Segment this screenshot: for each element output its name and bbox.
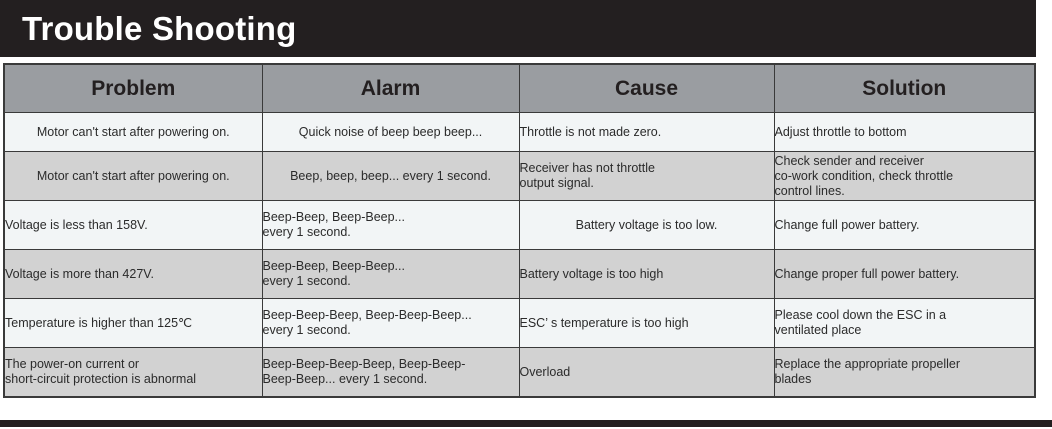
cell-solution: Change full power battery. xyxy=(774,201,1035,250)
cell-problem: Temperature is higher than 125℃ xyxy=(4,299,262,348)
page-title: Trouble Shooting xyxy=(22,6,297,51)
troubleshooting-table: Problem Alarm Cause Solution Motor can't… xyxy=(3,63,1036,398)
cell-alarm: Quick noise of beep beep beep... xyxy=(262,113,519,152)
table-row: Motor can't start after powering on. Qui… xyxy=(4,113,1035,152)
cell-problem: Motor can't start after powering on. xyxy=(4,113,262,152)
cell-solution: Replace the appropriate propeller blades xyxy=(774,348,1035,398)
cell-alarm: Beep-Beep-Beep, Beep-Beep-Beep... every … xyxy=(262,299,519,348)
cell-problem: The power-on current or short-circuit pr… xyxy=(4,348,262,398)
table-row: Voltage is more than 427V. Beep-Beep, Be… xyxy=(4,250,1035,299)
cell-solution: Please cool down the ESC in a ventilated… xyxy=(774,299,1035,348)
cell-solution: Check sender and receiver co-work condit… xyxy=(774,152,1035,201)
title-bar: Trouble Shooting xyxy=(0,0,1036,57)
troubleshooting-page: Trouble Shooting Problem Alarm Cause Sol… xyxy=(0,0,1052,429)
cell-cause: Battery voltage is too high xyxy=(519,250,774,299)
column-header-cause: Cause xyxy=(519,64,774,113)
cell-alarm: Beep-Beep-Beep-Beep, Beep-Beep- Beep-Bee… xyxy=(262,348,519,398)
table-header: Problem Alarm Cause Solution xyxy=(4,64,1035,113)
column-header-solution: Solution xyxy=(774,64,1035,113)
cell-cause: Throttle is not made zero. xyxy=(519,113,774,152)
cell-alarm: Beep, beep, beep... every 1 second. xyxy=(262,152,519,201)
table-row: Motor can't start after powering on. Bee… xyxy=(4,152,1035,201)
cell-problem: Voltage is less than 158V. xyxy=(4,201,262,250)
cell-problem: Motor can't start after powering on. xyxy=(4,152,262,201)
cell-solution: Change proper full power battery. xyxy=(774,250,1035,299)
cell-cause: ESC’ s temperature is too high xyxy=(519,299,774,348)
table-row: Temperature is higher than 125℃ Beep-Bee… xyxy=(4,299,1035,348)
cell-cause: Battery voltage is too low. xyxy=(519,201,774,250)
cell-solution: Adjust throttle to bottom xyxy=(774,113,1035,152)
column-header-problem: Problem xyxy=(4,64,262,113)
cell-problem: Voltage is more than 427V. xyxy=(4,250,262,299)
cell-cause: Overload xyxy=(519,348,774,398)
cell-alarm: Beep-Beep, Beep-Beep... every 1 second. xyxy=(262,201,519,250)
cell-alarm: Beep-Beep, Beep-Beep... every 1 second. xyxy=(262,250,519,299)
troubleshooting-table-wrapper: Problem Alarm Cause Solution Motor can't… xyxy=(3,63,1034,398)
bottom-bar xyxy=(0,420,1052,427)
cell-cause: Receiver has not throttle output signal. xyxy=(519,152,774,201)
table-body: Motor can't start after powering on. Qui… xyxy=(4,113,1035,398)
table-row: Voltage is less than 158V. Beep-Beep, Be… xyxy=(4,201,1035,250)
table-row: The power-on current or short-circuit pr… xyxy=(4,348,1035,398)
header-row: Problem Alarm Cause Solution xyxy=(4,64,1035,113)
column-header-alarm: Alarm xyxy=(262,64,519,113)
